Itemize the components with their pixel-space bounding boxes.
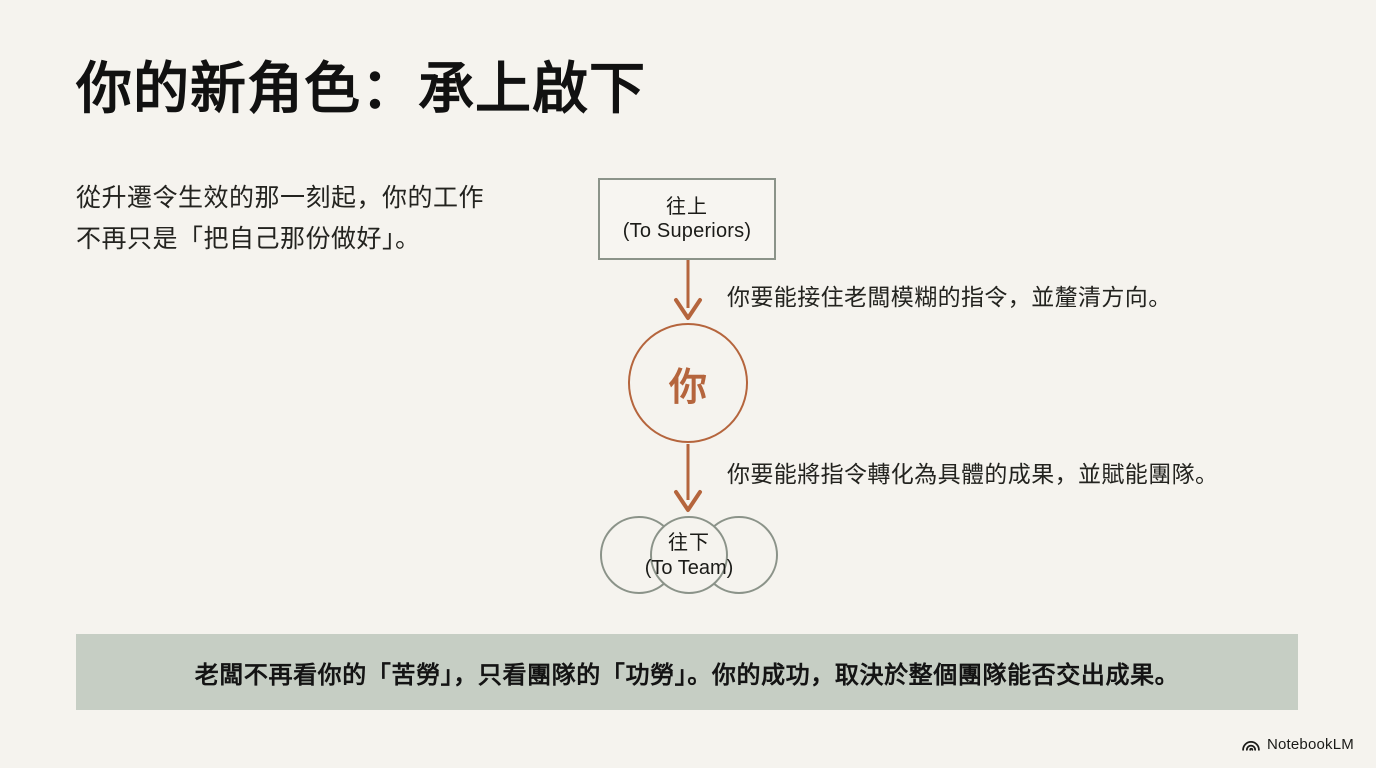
footer-brand-label: NotebookLM (1267, 736, 1354, 753)
arrow-down-to-team (676, 444, 700, 510)
node-superiors-label-cn: 往上 (666, 195, 708, 219)
page-title: 你的新角色：承上啟下 (76, 58, 646, 122)
intro-line-2: 不再只是「把自己那份做好」。 (76, 219, 556, 260)
key-takeaway-text: 老闆不再看你的「苦勞」，只看團隊的「功勞」。你的成功，取決於整個團隊能否交出成果… (195, 655, 1180, 690)
annotation-to-team: 你要能將指令轉化為具體的成果，並賦能團隊。 (727, 455, 1218, 489)
slide-canvas: 你的新角色：承上啟下 從升遷令生效的那一刻起，你的工作 不再只是「把自己那份做好… (0, 0, 1376, 768)
notebooklm-spiral-icon (1241, 734, 1261, 754)
node-team-labels: 往下 (To Team) (600, 531, 778, 581)
node-team-label-cn: 往下 (600, 531, 778, 556)
node-superiors: 往上 (To Superiors) (598, 178, 776, 260)
annotation-to-superiors: 你要能接住老闆模糊的指令，並釐清方向。 (727, 278, 1172, 312)
arrow-down-to-you (676, 260, 700, 318)
node-you-label: 你 (669, 356, 707, 411)
intro-paragraph: 從升遷令生效的那一刻起，你的工作 不再只是「把自己那份做好」。 (76, 178, 556, 261)
node-superiors-label-en: (To Superiors) (623, 219, 751, 243)
node-team-label-en: (To Team) (600, 556, 778, 581)
node-you: 你 (628, 323, 748, 443)
node-team: 往下 (To Team) (600, 515, 778, 595)
footer-brand: NotebookLM (1241, 734, 1354, 754)
intro-line-1: 從升遷令生效的那一刻起，你的工作 (76, 178, 556, 219)
key-takeaway-banner: 老闆不再看你的「苦勞」，只看團隊的「功勞」。你的成功，取決於整個團隊能否交出成果… (76, 634, 1298, 710)
